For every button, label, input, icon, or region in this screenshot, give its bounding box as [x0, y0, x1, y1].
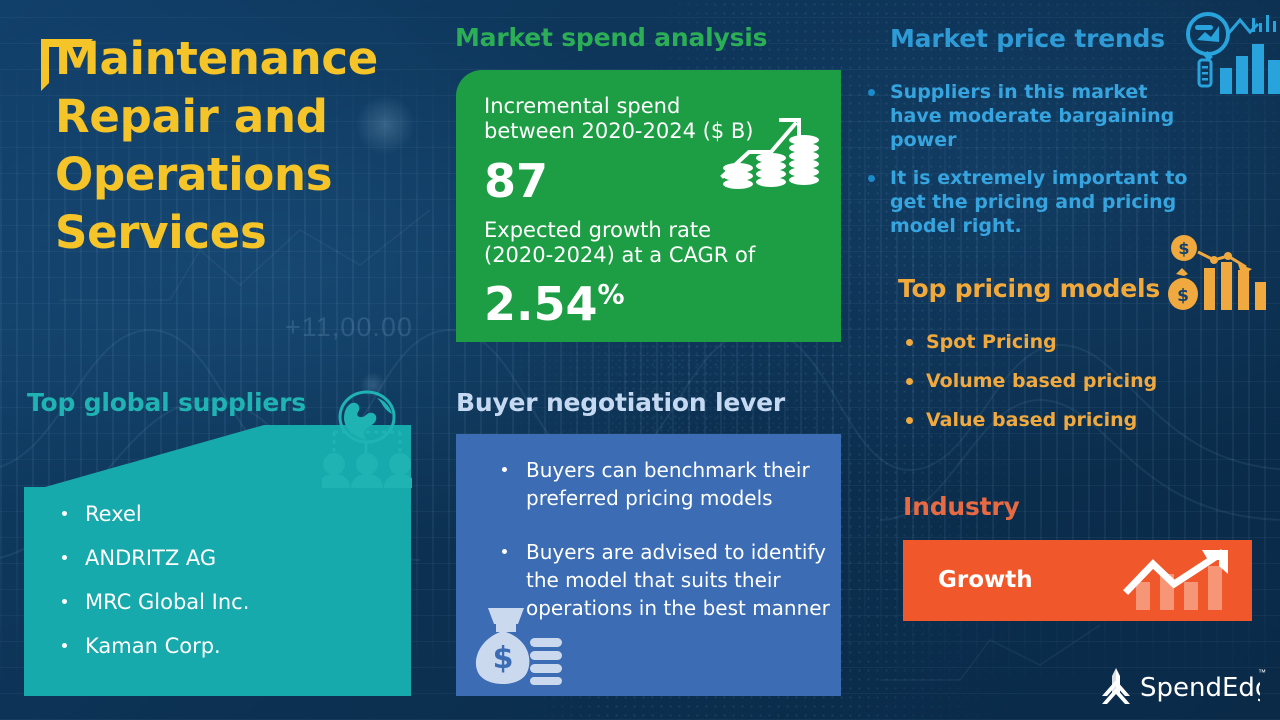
industry-value: Growth	[938, 567, 1033, 593]
list-item: Volume based pricing	[898, 369, 1198, 393]
money-bag-declining-chart-icon: $ $	[1168, 234, 1268, 312]
market-price-trends-heading: Market price trends	[890, 24, 1165, 53]
industry-heading: Industry	[903, 492, 1020, 521]
list-item: It is extremely important to get the pri…	[862, 166, 1192, 238]
market-spend-heading: Market spend analysis	[455, 23, 767, 52]
incremental-spend-value: 87	[484, 158, 548, 204]
svg-text:$: $	[493, 641, 514, 676]
background-ticker-value: +11,00.00	[285, 312, 413, 343]
suppliers-list: Rexel ANDRITZ AG MRC Global Inc. Kaman C…	[40, 501, 400, 677]
list-item: Value based pricing	[898, 408, 1198, 432]
list-item: Rexel	[40, 501, 400, 527]
growth-arrow-bars-icon	[1120, 548, 1240, 614]
svg-text:$: $	[1177, 286, 1189, 306]
market-price-trends-list: Suppliers in this market have moderate b…	[862, 80, 1192, 252]
money-bag-coins-icon: $	[470, 600, 562, 685]
list-item: ANDRITZ AG	[40, 545, 400, 571]
list-item: MRC Global Inc.	[40, 589, 400, 615]
growth-rate-label: Expected growth rate (2020-2024) at a CA…	[484, 218, 784, 268]
top-pricing-models-list: Spot Pricing Volume based pricing Value …	[898, 330, 1198, 447]
top-global-suppliers-card: Rexel ANDRITZ AG MRC Global Inc. Kaman C…	[24, 487, 411, 696]
trademark-symbol: ™	[1258, 668, 1266, 677]
market-spend-card: Incremental spend between 2020-2024 ($ B…	[456, 70, 841, 342]
cagr-unit: %	[598, 280, 625, 311]
title-block: Maintenance Repair and Operations Servic…	[37, 30, 437, 262]
spendedge-logo: SpendEdge	[1100, 666, 1260, 708]
globe-network-people-icon	[322, 388, 412, 488]
list-item: Spot Pricing	[898, 330, 1198, 354]
buyer-negotiation-lever-heading: Buyer negotiation lever	[456, 388, 785, 417]
list-item: Suppliers in this market have moderate b…	[862, 80, 1192, 152]
cagr-value: 2.54	[484, 277, 598, 331]
page-title: Maintenance Repair and Operations Servic…	[37, 30, 437, 262]
coin-stacks-growth-arrow-icon	[719, 106, 819, 198]
slide-canvas: +11,00.00 Maintenance Repair and Operati…	[0, 0, 1280, 720]
top-global-suppliers-heading: Top global suppliers	[27, 388, 306, 417]
svg-text:SpendEdge: SpendEdge	[1140, 673, 1260, 703]
industry-growth-bar: Growth	[903, 540, 1252, 621]
top-pricing-models-heading: Top pricing models	[898, 274, 1160, 303]
list-item: Buyers can benchmark their preferred pri…	[486, 456, 836, 512]
magnifier-bar-chart-icon	[1184, 12, 1280, 100]
svg-text:$: $	[1178, 239, 1189, 258]
cagr-value-wrapper: 2.54%	[484, 281, 625, 327]
list-item: Kaman Corp.	[40, 633, 400, 659]
